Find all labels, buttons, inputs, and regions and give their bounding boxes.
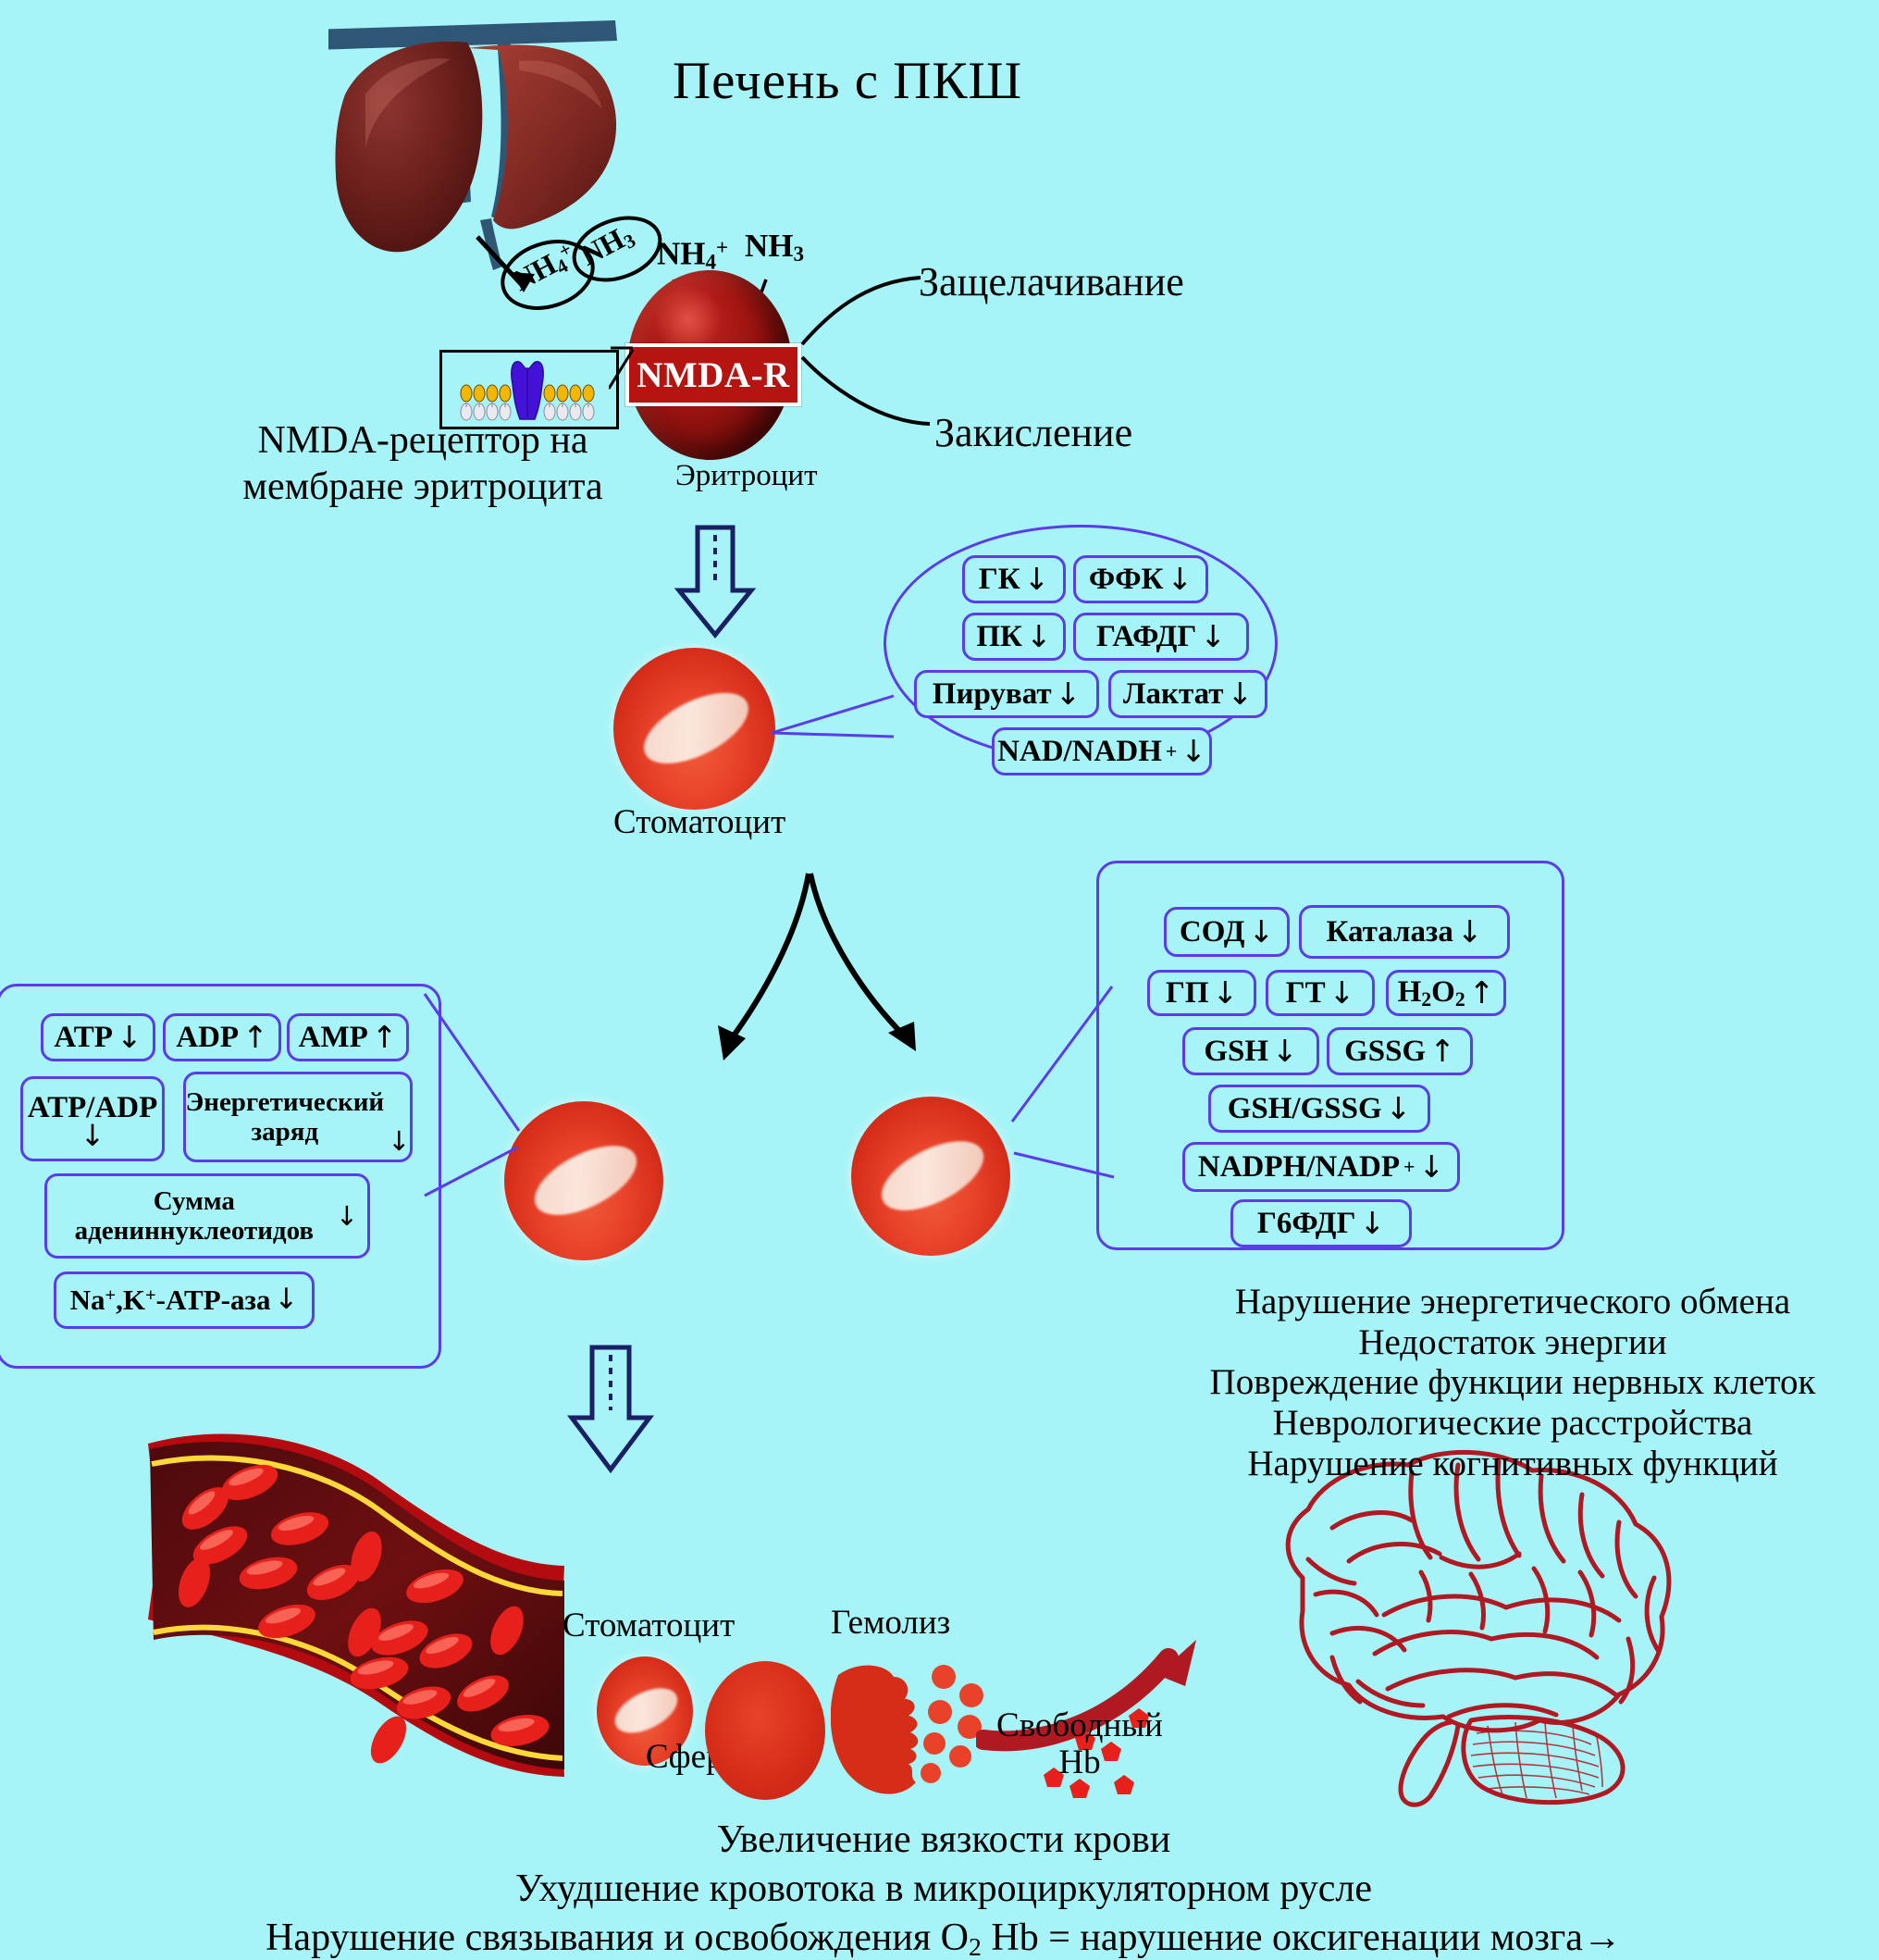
arrow-glyph-1: →	[1583, 1917, 1622, 1959]
consequences-text-block: Нарушение энергетического обмена Недоста…	[1147, 1282, 1878, 1483]
tag-sod: СОД↓	[1164, 907, 1290, 957]
stomatocyte-to-glycolysis-leader	[770, 685, 899, 750]
consequence-line-4: Неврологические расстройства	[1147, 1403, 1878, 1444]
stomatocyte-cell	[613, 648, 775, 810]
hemolysis-label: Гемолиз	[831, 1606, 950, 1642]
ammonium-ion-label-2: NH4+	[657, 236, 728, 273]
consequence-line-2: Недостаток энергии	[1147, 1322, 1878, 1363]
block-arrow-down-1	[674, 524, 757, 639]
stomatocyte-label-bottom: Стоматоцит	[562, 1608, 735, 1644]
membrane-receptor-icon	[442, 353, 611, 421]
tag-gssg: GSSG↑	[1327, 1027, 1473, 1075]
nmda-receptor-badge: NMDA-R	[625, 343, 801, 406]
tag-amp: AMP↑	[287, 1013, 409, 1061]
tag-nadph-nadp: NADPH/NADP+↓	[1182, 1142, 1460, 1192]
diagram-canvas: Печень с ПКШ NH4+ NH3 NH4+ NH3 NMDA-R	[0, 0, 1879, 1960]
tag-gsh-gssg: GSH/GSSG↓	[1208, 1085, 1430, 1133]
consequence-line-1: Нарушение энергетического обмена	[1147, 1282, 1878, 1322]
acidification-label: Закисление	[934, 412, 1132, 454]
tag-lactate: Лактат↓	[1108, 670, 1267, 718]
page-title: Печень с ПКШ	[673, 54, 1022, 109]
tag-atp-adp-ratio: ATP/ADP↓	[20, 1076, 165, 1161]
tag-gsh: GSH↓	[1182, 1027, 1319, 1075]
stomatocyte-label: Стоматоцит	[613, 805, 785, 841]
erythrocyte-right	[851, 1097, 1010, 1256]
tag-na-k-atpase: Na+,K+-ATP-аза↓	[54, 1272, 315, 1329]
tag-gk: ГК↓	[962, 555, 1066, 603]
tag-adp: ADP↑	[163, 1013, 281, 1061]
tag-energy-charge: Энергетический заряд↓	[183, 1072, 413, 1162]
tag-catalase: Каталаза↓	[1299, 905, 1510, 959]
tag-gt: ГТ↓	[1266, 970, 1375, 1016]
tag-nad-nadh: NAD/NADH+↓	[992, 727, 1212, 775]
inset-connector-top	[611, 346, 635, 354]
tag-ffk: ФФК↓	[1073, 555, 1208, 603]
conclusion-text-block: Увеличение вязкости крови Ухудшение кров…	[111, 1816, 1776, 1960]
spherocyte-cell	[705, 1661, 825, 1800]
tag-g6fdg: Г6ФДГ↓	[1230, 1199, 1412, 1247]
conclusion-line-1: Увеличение вязкости крови	[111, 1816, 1776, 1865]
brain-illustration	[1193, 1439, 1730, 1809]
consequence-line-5: Нарушение когнитивных функций	[1147, 1444, 1878, 1484]
tag-h2o2: H2O2↑	[1386, 970, 1506, 1016]
nmda-receptor-caption: NMDA-рецептор на мембране эритроцита	[215, 418, 631, 510]
consequence-line-3: Повреждение функции нервных клеток	[1147, 1362, 1878, 1403]
conclusion-line-3: Нарушение связывания и освобождения O2 H…	[111, 1914, 1776, 1960]
tag-pyruvate: Пируват↓	[914, 670, 1099, 718]
alkalization-label: Защелачивание	[919, 261, 1184, 304]
free-hb-label: Свободный Hb	[992, 1707, 1168, 1781]
tag-gafdg: ГАФДГ↓	[1073, 613, 1249, 661]
tag-adenine-nucleotides: Сумма адениннуклеотидов↓	[44, 1173, 370, 1259]
tag-gp: ГП↓	[1147, 970, 1256, 1016]
conclusion-line-2: Ухудшение кровотока в микроциркуляторном…	[111, 1865, 1776, 1914]
tag-atp: ATP↓	[41, 1013, 155, 1061]
tag-pk: ПК↓	[962, 613, 1066, 661]
blood-vessel-illustration	[102, 1425, 583, 1795]
branch-arrows	[638, 870, 1027, 1073]
